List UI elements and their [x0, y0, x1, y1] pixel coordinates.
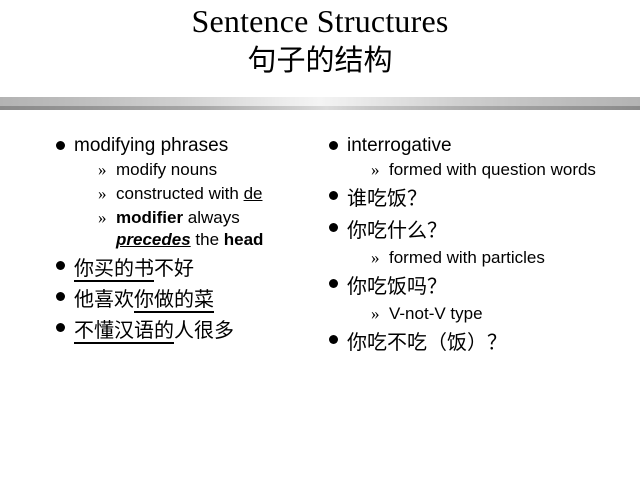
chevron-double-right-icon: »: [98, 183, 107, 205]
left-sub-list: » modify nouns » constructed with de » m…: [74, 159, 324, 251]
sub-item-de-underlined: de: [244, 184, 263, 203]
right-sub-list-3: » V-not-V type: [347, 303, 625, 325]
list-item: 不懂汉语的人很多: [52, 315, 324, 345]
sub-item-modify-nouns: modify nouns: [116, 160, 217, 179]
list-item: 谁吃饭？: [325, 183, 625, 214]
left-example-3: 不懂汉语的人很多: [74, 318, 234, 344]
right-bullet-list: interrogative » formed with question wor…: [325, 133, 625, 358]
right-example-3: 你吃饭吗？: [347, 274, 447, 298]
title-divider: [0, 97, 640, 110]
sub-item-modifier-bold: modifier: [116, 208, 183, 227]
list-item: » formed with question words: [347, 159, 625, 181]
bullet-dot-icon: [56, 261, 65, 270]
sub-item-formed-with-particles: formed with particles: [389, 248, 545, 267]
divider-gradient-line: [0, 106, 640, 110]
bullet-dot-icon: [329, 141, 338, 150]
left-example-1-plain: 不好: [154, 256, 194, 280]
left-column: modifying phrases » modify nouns » const…: [52, 133, 324, 346]
page-title-english: Sentence Structures: [0, 2, 640, 40]
right-sub-list-1: » formed with question words: [347, 159, 625, 181]
left-bullet-list: modifying phrases » modify nouns » const…: [52, 133, 324, 345]
left-example-3-underlined: 不懂汉语的: [74, 318, 174, 344]
bullet-dot-icon: [329, 335, 338, 344]
chevron-double-right-icon: »: [98, 159, 107, 181]
left-example-1: 你买的书不好: [74, 256, 194, 282]
list-item: » formed with particles: [347, 247, 625, 269]
bullet-dot-icon: [329, 191, 338, 200]
list-item: » modifier always precedes the head: [74, 207, 324, 251]
divider-gradient-bar: [0, 97, 640, 106]
slide-body: modifying phrases » modify nouns » const…: [0, 133, 640, 453]
bullet-dot-icon: [56, 292, 65, 301]
sub-item-precedes-bold-italic: precedes: [116, 230, 191, 249]
slide-title-block: Sentence Structures 句子的结构: [0, 2, 640, 80]
left-example-2: 他喜欢你做的菜: [74, 287, 214, 313]
bullet-dot-icon: [56, 323, 65, 332]
sub-item-the: the: [191, 230, 224, 249]
slide: Sentence Structures 句子的结构 modifying phra…: [0, 0, 640, 480]
sub-item-formed-with-question-words: formed with question words: [389, 160, 596, 179]
chevron-double-right-icon: »: [371, 303, 380, 325]
left-example-2-underlined: 你做的菜: [134, 287, 214, 313]
right-example-1: 谁吃饭？: [347, 186, 427, 210]
page-title-chinese: 句子的结构: [0, 40, 640, 80]
sub-item-always: always: [183, 208, 240, 227]
left-heading-modifying-phrases: modifying phrases: [74, 135, 228, 156]
list-item: » V-not-V type: [347, 303, 625, 325]
list-item: interrogative » formed with question wor…: [325, 133, 625, 181]
left-example-2-plain: 他喜欢: [74, 287, 134, 311]
chevron-double-right-icon: »: [371, 159, 380, 181]
list-item: 你吃饭吗？ » V-not-V type: [325, 271, 625, 325]
sub-item-head-bold: head: [224, 230, 264, 249]
right-example-2: 你吃什么？: [347, 218, 447, 242]
chevron-double-right-icon: »: [371, 247, 380, 269]
list-item: 你吃不吃（饭）？: [325, 327, 625, 358]
bullet-dot-icon: [329, 279, 338, 288]
list-item: 他喜欢你做的菜: [52, 284, 324, 314]
list-item: 你吃什么？ » formed with particles: [325, 215, 625, 269]
right-example-4: 你吃不吃（饭）？: [347, 330, 507, 354]
right-sub-list-2: » formed with particles: [347, 247, 625, 269]
bullet-dot-icon: [329, 223, 338, 232]
bullet-dot-icon: [56, 141, 65, 150]
list-item: » modify nouns: [74, 159, 324, 181]
left-example-1-underlined: 你买的书: [74, 256, 154, 282]
chevron-double-right-icon: »: [98, 207, 107, 229]
list-item: modifying phrases » modify nouns » const…: [52, 133, 324, 251]
right-heading-interrogative: interrogative: [347, 135, 452, 156]
right-column: interrogative » formed with question wor…: [325, 133, 625, 359]
list-item: 你买的书不好: [52, 253, 324, 283]
sub-item-constructed-with-de-prefix: constructed with: [116, 184, 244, 203]
left-example-3-plain: 人很多: [174, 318, 234, 342]
sub-item-v-not-v-type: V-not-V type: [389, 304, 483, 323]
list-item: » constructed with de: [74, 183, 324, 205]
